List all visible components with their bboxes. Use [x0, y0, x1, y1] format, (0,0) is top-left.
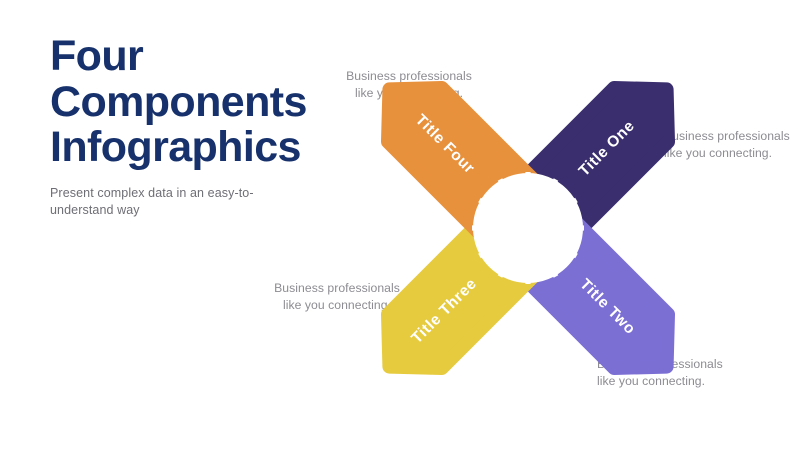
- four-component-diagram: Title One Title Two Title Three: [300, 0, 810, 456]
- title-block: Four Components Infographics Present com…: [50, 34, 315, 219]
- page-title: Four Components Infographics: [50, 34, 315, 171]
- page-subtitle: Present complex data in an easy-to-under…: [50, 185, 315, 220]
- infographic-slide: Four Components Infographics Present com…: [0, 0, 810, 456]
